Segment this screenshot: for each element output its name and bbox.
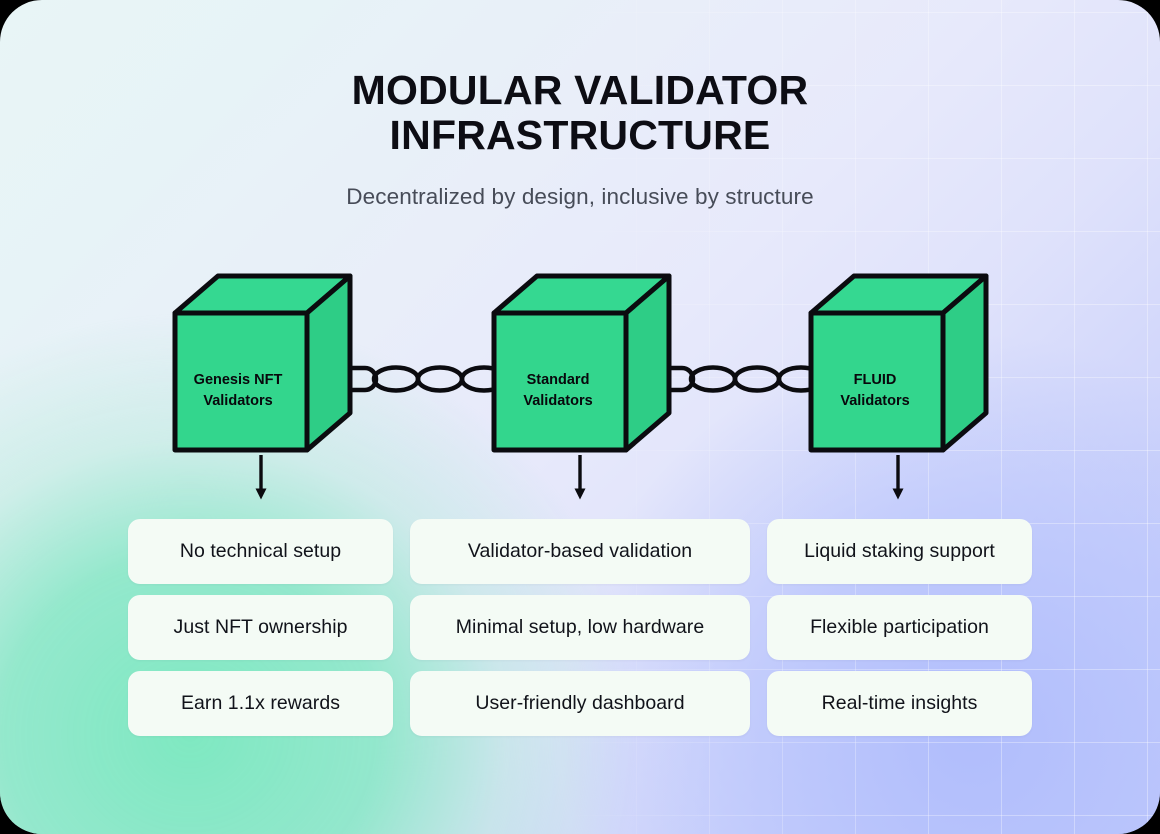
header: MODULAR VALIDATOR INFRASTRUCTURE Decentr… [0,68,1160,210]
feature-card[interactable]: Minimal setup, low hardware [410,595,750,660]
feature-card[interactable]: No technical setup [128,519,393,584]
feature-card-label: Earn 1.1x rewards [181,692,340,715]
page-title: MODULAR VALIDATOR INFRASTRUCTURE [300,68,860,158]
feature-card-label: Minimal setup, low hardware [456,616,704,639]
feature-card-label: Liquid staking support [804,540,995,563]
feature-card-label: Just NFT ownership [174,616,348,639]
feature-card[interactable]: Real-time insights [767,671,1032,736]
feature-card-grid: No technical setup Just NFT ownership Ea… [128,519,1032,736]
page-subtitle: Decentralized by design, inclusive by st… [0,184,1160,210]
feature-card-label: User-friendly dashboard [475,692,684,715]
feature-card[interactable]: User-friendly dashboard [410,671,750,736]
feature-card[interactable]: Validator-based validation [410,519,750,584]
feature-card-label: Validator-based validation [468,540,692,563]
feature-card[interactable]: Earn 1.1x rewards [128,671,393,736]
feature-card[interactable]: Liquid staking support [767,519,1032,584]
feature-column-fluid: Liquid staking support Flexible particip… [767,519,1032,736]
feature-column-genesis: No technical setup Just NFT ownership Ea… [128,519,393,736]
infographic-canvas: MODULAR VALIDATOR INFRASTRUCTURE Decentr… [0,0,1160,834]
feature-card-label: Real-time insights [822,692,978,715]
feature-card-label: Flexible participation [810,616,989,639]
feature-card[interactable]: Just NFT ownership [128,595,393,660]
feature-card-label: No technical setup [180,540,341,563]
feature-column-standard: Validator-based validation Minimal setup… [410,519,750,736]
feature-card[interactable]: Flexible participation [767,595,1032,660]
